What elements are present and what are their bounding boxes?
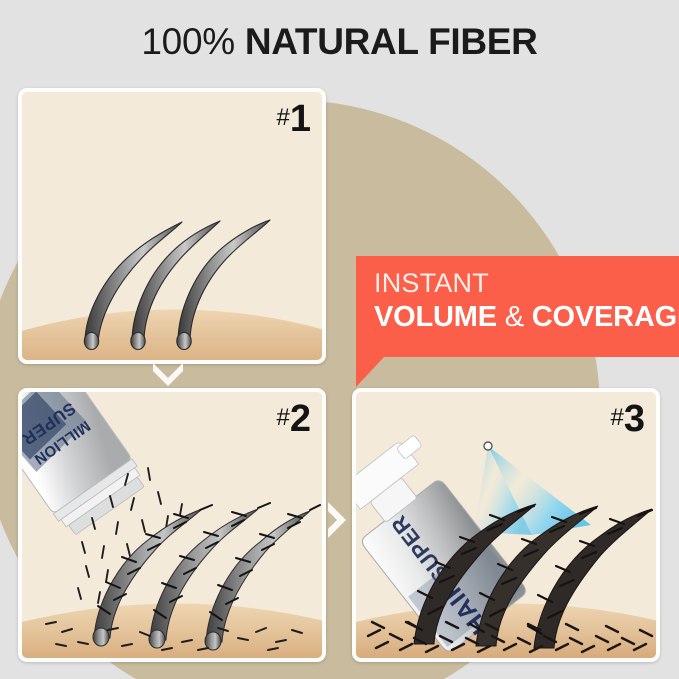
step-3-hash: #	[611, 404, 624, 431]
step-2-hash: #	[277, 404, 290, 431]
step-3-number: 3	[624, 398, 644, 440]
step-panel-3: SUPER HAIR	[352, 388, 660, 662]
callout-coverage: COVERAGE	[532, 301, 679, 333]
callout-volume: VOLUME	[374, 301, 497, 333]
step-panel-1: #1	[18, 88, 326, 364]
chevron-down-icon	[150, 358, 186, 386]
infographic-canvas: 100% NATURAL FIBER	[0, 0, 679, 679]
title-percent: 100%	[141, 21, 234, 62]
step-panel-2: SUPER MILLION	[18, 388, 326, 662]
step-1-hash: #	[277, 104, 290, 131]
callout-banner: INSTANT VOLUME & COVERAGE	[356, 256, 679, 357]
chevron-right-icon	[324, 500, 350, 540]
step-2-label: #2	[277, 400, 311, 438]
callout-line-benefit: VOLUME & COVERAGE	[374, 299, 673, 335]
title-main: NATURAL FIBER	[245, 21, 538, 62]
callout-banner-text: INSTANT VOLUME & COVERAGE	[374, 267, 673, 335]
callout-line-instant: INSTANT	[374, 267, 673, 299]
step-1-label: #1	[277, 100, 311, 138]
page-title: 100% NATURAL FIBER	[0, 20, 679, 64]
step-2-number: 2	[290, 398, 310, 440]
step-3-label: #3	[611, 400, 645, 438]
step-1-number: 1	[290, 98, 310, 140]
callout-ampersand: &	[505, 301, 524, 333]
